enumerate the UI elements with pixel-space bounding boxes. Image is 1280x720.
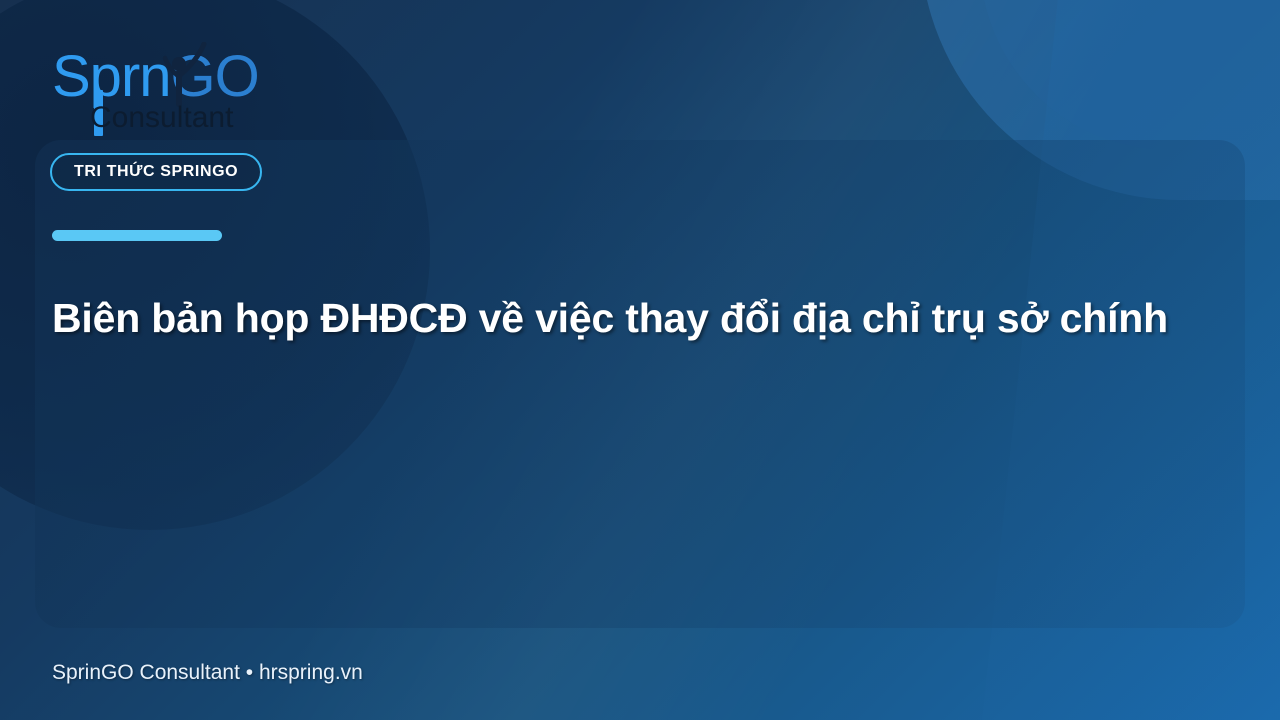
springo-logo: SprnGO Consultant xyxy=(52,48,302,144)
logo-wordmark: SprnGO xyxy=(52,48,259,106)
slide-canvas: SprnGO Consultant TRI THỨC SPRINGO Biên … xyxy=(0,0,1280,720)
slide-content: SprnGO Consultant TRI THỨC SPRINGO Biên … xyxy=(0,0,1280,720)
category-badge-label: TRI THỨC SPRINGO xyxy=(74,163,238,181)
category-badge: TRI THỨC SPRINGO xyxy=(50,153,262,191)
footer-attribution: SprinGO Consultant • hrspring.vn xyxy=(52,661,363,685)
title-accent-bar xyxy=(52,230,222,241)
page-title: Biên bản họp ĐHĐCĐ về việc thay đổi địa … xyxy=(52,289,1237,347)
logo-subtitle: Consultant xyxy=(90,103,233,133)
